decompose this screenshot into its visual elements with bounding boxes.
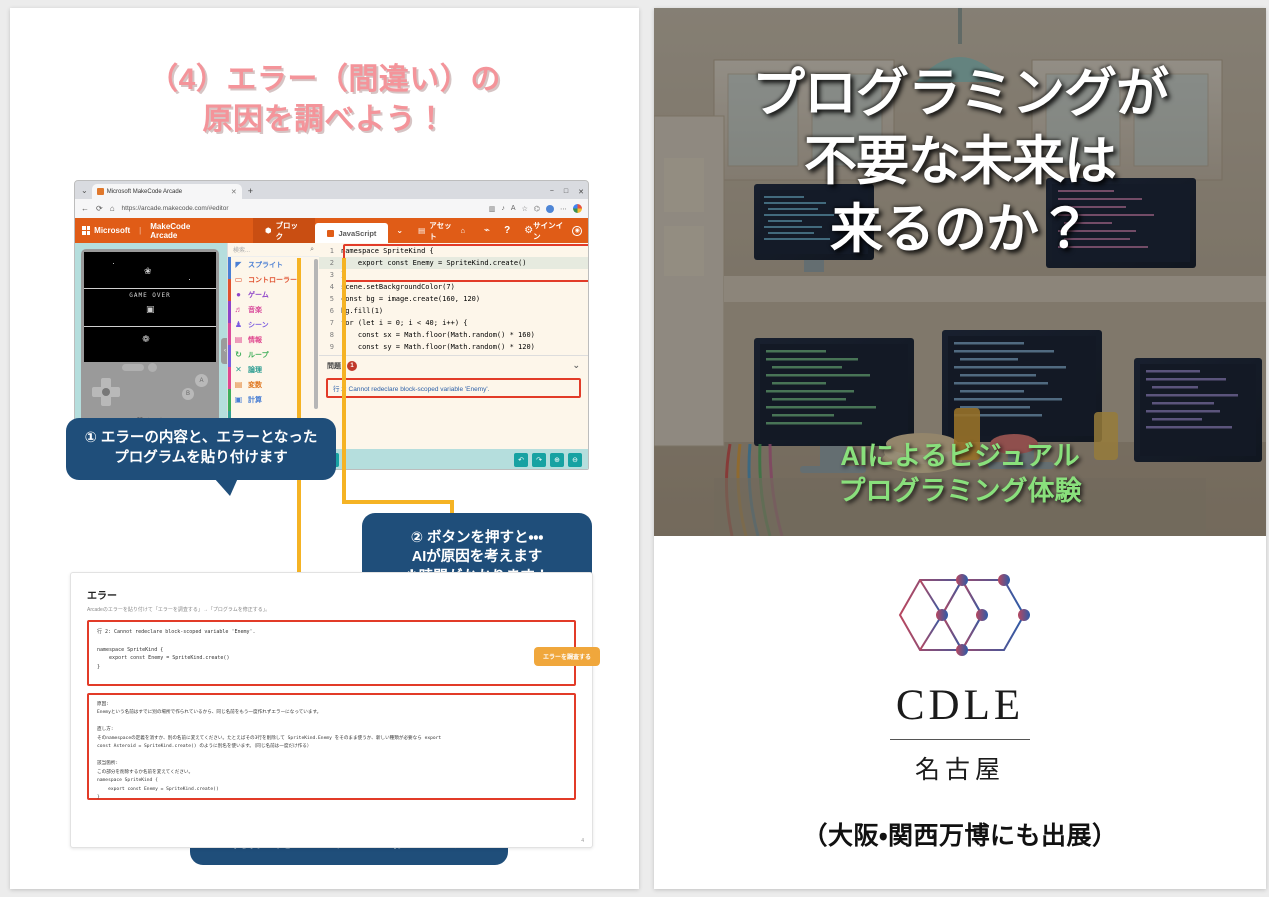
reset-button[interactable] [148,363,157,372]
maximize-icon[interactable]: □ [564,188,568,196]
signin-button[interactable]: サインイン ◉ [533,220,582,242]
toolbox-category-icon: ♟ [234,320,243,329]
doc-heading: エラー [87,587,576,602]
toolbox-category-3[interactable]: ●ゲーム [228,287,319,302]
cdle-wordmark: CDLE [654,681,1266,730]
extensions-icon[interactable]: ⌬ [534,205,540,213]
signin-label: サインイン [533,220,568,242]
toolbox-category-icon: ◤ [234,260,243,269]
dpad[interactable] [92,378,120,406]
split-screen-icon[interactable]: ▥ [489,205,496,213]
toolbox-category-label: 音楽 [248,305,262,315]
toolbox-category-1[interactable]: ◤スプライト [228,257,319,272]
callout-1-text: ① エラーの内容と、エラーとなった プログラムを貼り付けます [85,429,318,468]
tab-assets[interactable]: ▤ アセット ⌂ [411,218,472,243]
browser-tab[interactable]: Microsoft MakeCode Arcade ✕ [92,184,242,199]
expo-note: （大阪・関西万博にも出展） [654,816,1266,852]
toolbox-category-label: コントローラー [248,275,297,285]
redo-icon[interactable]: ↷ [532,453,546,467]
new-tab-icon[interactable]: + [248,186,253,196]
menu-button[interactable] [122,364,144,371]
page-title: （4）エラー（間違い）の 原因を調べよう！ [10,60,639,140]
reload-icon[interactable]: ⟳ [96,204,103,213]
callout-1-tail [214,478,238,496]
investigate-error-button[interactable]: エラーを調査する [534,647,600,666]
search-icon[interactable]: ⌕ [310,246,314,254]
line-number: 2 [319,257,341,269]
line-number: 6 [319,305,341,317]
line-text: namespace SpriteKind { [341,245,434,257]
makecode-toolbar: Microsoft | MakeCode Arcade ⬢ ブロック JavaS… [75,218,588,243]
ai-answer-box[interactable]: 原因: Enemyという名前はすでに別の場所で作られているから、同じ名前をもう一… [87,693,576,800]
ai-error-tool-document: エラー Arcadeのエラーを貼り付けて「エラーを調査する」→「プログラムを修正… [70,572,593,848]
button-b[interactable]: B [182,388,194,400]
avatar[interactable] [546,205,554,213]
zoom-in-icon[interactable]: ⊕ [550,453,564,467]
toolbox-category-icon: ♬ [234,305,243,314]
hero-section: プログラミングが 不要な未来は 来るのか？ AIによるビジュアル プログラミング… [654,8,1266,536]
makecode-icon-group: ⌁ ? ⚙ [484,225,533,236]
tab-assets-label: アセット [429,220,456,242]
chevron-down-icon[interactable]: ⌄ [572,360,580,371]
browser-tab-title: Microsoft MakeCode Arcade [107,189,182,195]
left-slide: （4）エラー（間違い）の 原因を調べよう！ ⌄ Microsoft MakeCo… [10,8,639,889]
toolbox-category-2[interactable]: ▭コントローラー [228,272,319,287]
toolbox-category-label: 変数 [248,380,262,390]
callout-1: ① エラーの内容と、エラーとなった プログラムを貼り付けます [66,418,336,480]
line-text: bg.fill(1) [341,305,383,317]
toolbox-category-6[interactable]: ▤情報 [228,332,319,347]
brand-separator: | [139,226,141,235]
browser-profile-icon[interactable] [573,204,582,213]
doc-page-number: 4 [581,838,584,844]
code-editor-pane: 1namespace SpriteKind {2 export const En… [319,243,588,470]
toolbox-category-icon: ↻ [234,350,243,359]
line-number: 3 [319,269,341,281]
brand-label: Microsoft [94,226,130,235]
close-window-icon[interactable]: ✕ [578,188,584,196]
line-number: 9 [319,341,341,353]
toolbox-search-placeholder: 検索... [233,245,250,254]
toolbox-category-5[interactable]: ♟シーン [228,317,319,332]
hero-title: プログラミングが 不要な未来は 来るのか？ [654,60,1266,263]
toolbox-category-icon: ● [234,290,243,299]
code-line[interactable]: 4scene.setBackgroundColor(7) [319,281,588,293]
line-text: for (let i = 0; i < 40; i++) { [341,317,467,329]
toolbox-category-icon: ▤ [234,380,243,389]
code-line[interactable]: 7for (let i = 0; i < 40; i++) { [319,317,588,329]
code-area[interactable]: 1namespace SpriteKind {2 export const En… [319,243,588,355]
zoom-out-icon[interactable]: ⊖ [568,453,582,467]
editor-footer-actions: ↶ ↷ ⊕ ⊖ [514,453,582,467]
microsoft-grid-icon [82,226,90,235]
line-text: const sx = Math.floor(Math.random() * 16… [341,329,535,341]
help-icon[interactable]: ? [504,225,510,236]
toolbox-category-icon: ▣ [234,395,243,404]
arrow-elbow [342,500,452,504]
gear-icon[interactable]: ⚙ [524,225,533,236]
toolbox-search[interactable]: 検索... ⌕ [228,243,319,257]
code-lines: 1namespace SpriteKind {2 export const En… [319,245,588,353]
code-line[interactable]: 1namespace SpriteKind { [319,245,588,257]
assets-icon: ▤ [418,226,425,235]
arrow-elbow-down [450,500,454,514]
problems-bar[interactable]: 問題 1 ⌄ [319,355,588,375]
close-tab-icon[interactable]: ✕ [231,188,237,196]
button-a[interactable]: A [195,374,208,387]
browser-tab-bar: ⌄ Microsoft MakeCode Arcade ✕ + − □ ✕ [75,181,588,199]
toolbox-category-label: シーン [248,320,269,330]
favicon-icon [97,188,104,195]
toolbox-category-8[interactable]: ✕論理 [228,362,319,377]
lock-icon: ⌂ [110,204,115,213]
console-controls: A B Microsoft [84,362,216,424]
minimize-icon[interactable]: − [550,188,554,196]
toolbox-category-label: ループ [248,350,269,360]
tab-javascript-label: JavaScript [338,229,376,238]
simulator-screen[interactable]: ❀ · · GAME OVER ▣ ❁ [84,252,216,362]
line-text: const sy = Math.floor(Math.random() * 12… [341,341,535,353]
slide-pair-stage: （4）エラー（間違い）の 原因を調べよう！ ⌄ Microsoft MakeCo… [0,0,1269,897]
account-icon: ◉ [572,226,582,236]
favorite-icon[interactable]: ☆ [522,205,528,213]
line-text: export const Enemy = SpriteKind.create() [341,257,526,269]
doc-subheading: Arcadeのエラーを貼り付けて「エラーを調査する」→「プログラムを修正する」。 [87,606,576,613]
code-line[interactable]: 9 const sy = Math.floor(Math.random() * … [319,341,588,353]
cdle-network-icon [870,560,1050,672]
toolbox-category-icon: ▭ [234,275,243,284]
toolbox-category-7[interactable]: ↻ループ [228,347,319,362]
browser-address-bar[interactable]: ← ⟳ ⌂ https://arcade.makecode.com/#edito… [75,199,588,218]
line-text: const bg = image.create(160, 120) [341,293,480,305]
blocks-icon: ⬢ [265,226,272,235]
back-icon[interactable]: ← [81,204,89,213]
toolbox-category-list: ◤スプライト▭コントローラー●ゲーム♬音楽♟シーン▤情報↻ループ✕論理▤変数▣計… [228,257,319,407]
read-aloud-icon[interactable]: ♪ [501,205,505,212]
code-line[interactable]: 3} [319,269,588,281]
logo-divider [890,739,1030,740]
editor-footer: ◉ ↶ ↷ ⊕ ⊖ [319,449,588,470]
share-icon[interactable]: ⌁ [484,225,490,236]
error-input-box[interactable]: 行 2: Cannot redeclare block-scoped varia… [87,620,576,686]
line-text: scene.setBackgroundColor(7) [341,281,455,293]
toolbox-category-icon: ▤ [234,335,243,344]
tab-blocks[interactable]: ⬢ ブロック [253,218,315,243]
address-bar-actions: ▥ ♪ A ☆ ⌬ ⋯ [489,204,582,213]
toolbox-scrollbar[interactable] [314,259,318,409]
cdle-city-label: 名古屋 [654,750,1266,786]
javascript-icon [327,230,334,237]
arrow-problem-to-button [342,258,346,503]
toolbox-category-10[interactable]: ▣計算 [228,392,319,407]
line-number: 7 [319,317,341,329]
collections-icon[interactable]: A [511,205,516,212]
product-label: MakeCode Arcade [150,222,213,240]
line-number: 1 [319,245,341,257]
toolbox-category-label: ゲーム [248,290,269,300]
problem-message[interactable]: 行 2: Cannot redeclare block-scoped varia… [326,378,581,398]
toolbox-category-label: 論理 [248,365,262,375]
toolbox-category-label: 計算 [248,395,262,405]
toolbox-category-label: 情報 [248,335,262,345]
tab-javascript[interactable]: JavaScript [315,223,388,243]
url-text: https://arcade.makecode.com/#editor [122,205,229,212]
line-number: 5 [319,293,341,305]
hero-subtitle: AIによるビジュアル プログラミング体験 [654,439,1266,510]
undo-icon[interactable]: ↶ [514,453,528,467]
toolbox-category-4[interactable]: ♬音楽 [228,302,319,317]
toolbox-category-label: スプライト [248,260,283,270]
arcade-console: ❀ · · GAME OVER ▣ ❁ [81,249,219,427]
more-icon[interactable]: ⋯ [560,205,567,213]
problems-count-badge: 1 [347,361,357,371]
toolbox-category-9[interactable]: ▤変数 [228,377,319,392]
game-over-text: GAME OVER [84,292,216,299]
toolbox-category-icon: ✕ [234,365,243,374]
tab-blocks-label: ブロック [276,220,304,242]
tab-list-chevron-icon[interactable]: ⌄ [81,186,88,195]
line-number: 8 [319,329,341,341]
chevron-down-icon[interactable]: ⌄ [388,226,411,235]
code-line[interactable]: 6bg.fill(1) [319,305,588,317]
cdle-logo-block: CDLE 名古屋 [654,560,1266,786]
line-number: 4 [319,281,341,293]
microsoft-logo[interactable]: Microsoft | MakeCode Arcade [75,222,213,240]
right-slide: プログラミングが 不要な未来は 来るのか？ AIによるビジュアル プログラミング… [654,8,1266,889]
code-line[interactable]: 8 const sx = Math.floor(Math.random() * … [319,329,588,341]
code-line[interactable]: 2 export const Enemy = SpriteKind.create… [319,257,588,269]
code-line[interactable]: 5const bg = image.create(160, 120) [319,293,588,305]
window-controls: − □ ✕ [550,188,584,196]
home-icon[interactable]: ⌂ [461,226,466,235]
problems-label: 問題 [327,361,341,371]
